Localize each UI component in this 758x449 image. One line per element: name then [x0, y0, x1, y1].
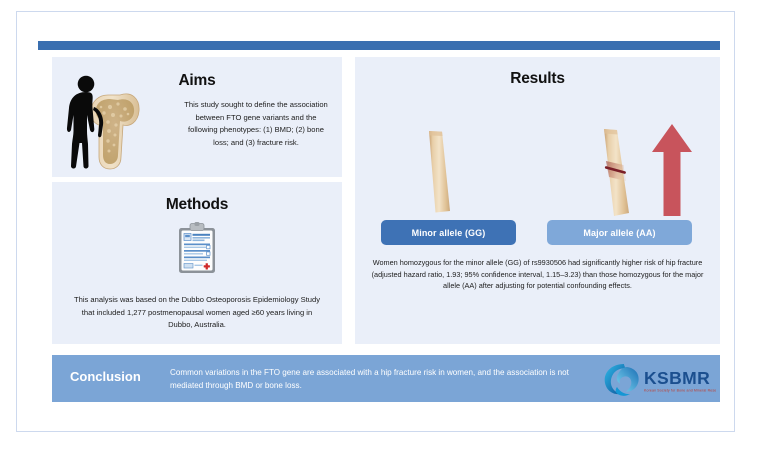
minor-allele-button[interactable]: Minor allele (GG): [381, 220, 516, 245]
ksbmr-swirl-icon: [605, 364, 639, 396]
results-title: Results: [355, 70, 720, 88]
clipboard-icon: [177, 222, 217, 274]
conclusion-label: Conclusion: [70, 369, 141, 384]
methods-text: This analysis was based on the Dubbo Ost…: [72, 294, 322, 332]
up-arrow-icon: [650, 121, 694, 219]
top-accent-bar: [38, 41, 720, 50]
aims-panel: Aims: [52, 57, 342, 177]
woman-silhouette-femur-bone-icon: [58, 73, 144, 171]
infographic-page: Aims: [0, 0, 758, 449]
svg-text:Korean Society for Bone and Mi: Korean Society for Bone and Mineral Rese…: [644, 389, 716, 393]
conclusion-bar: Conclusion Common variations in the FTO …: [52, 355, 720, 402]
methods-title: Methods: [52, 196, 342, 214]
results-panel: Results: [355, 57, 720, 344]
svg-text:KSBMR: KSBMR: [644, 368, 710, 388]
methods-panel: Methods: [52, 182, 342, 344]
major-allele-button[interactable]: Major allele (AA): [547, 220, 692, 245]
fractured-bone-icon: [593, 127, 645, 219]
ksbmr-logo: KSBMR Korean Society for Bone and Minera…: [600, 361, 716, 397]
aims-text: This study sought to define the associat…: [180, 99, 332, 149]
results-text: Women homozygous for the minor allele (G…: [367, 257, 708, 292]
intact-bone-icon: [415, 129, 465, 215]
conclusion-text: Common variations in the FTO gene are as…: [170, 366, 600, 392]
